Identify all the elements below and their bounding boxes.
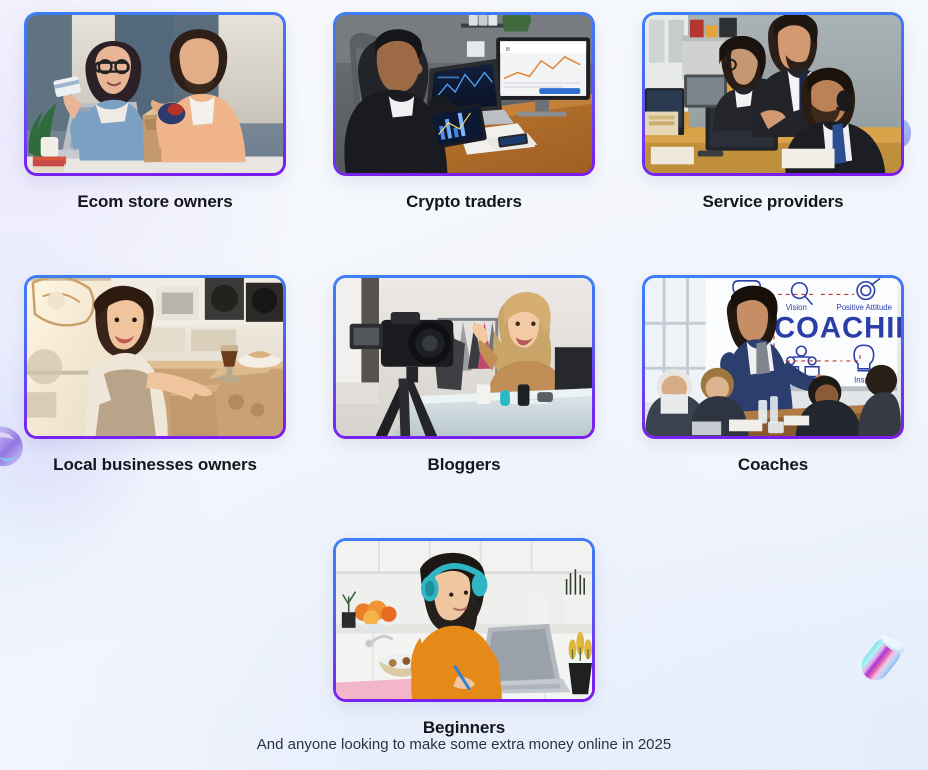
card-frame <box>333 275 595 439</box>
audience-card-service-providers[interactable]: Service providers <box>642 12 904 212</box>
card-image-container <box>27 278 283 436</box>
svg-text:Vision: Vision <box>786 303 807 312</box>
card-frame: COACHING Vision Positive Attitude Solid … <box>642 275 904 439</box>
card-frame: B <box>333 12 595 176</box>
audience-card-local-businesses-owners[interactable]: Local businesses owners <box>24 275 286 475</box>
card-row-3: Beginners <box>20 538 908 738</box>
audience-card-beginners[interactable]: Beginners <box>333 538 595 738</box>
audience-card-bloggers[interactable]: Bloggers <box>333 275 595 475</box>
card-frame <box>24 275 286 439</box>
svg-text:Positive Attitude: Positive Attitude <box>837 303 892 312</box>
svg-text:COACHING: COACHING <box>774 312 901 345</box>
card-row-2: Local businesses owners <box>20 275 908 475</box>
audience-card-coaches[interactable]: COACHING Vision Positive Attitude Solid … <box>642 275 904 475</box>
card-image-container <box>336 278 592 436</box>
card-label: Local businesses owners <box>53 455 257 475</box>
card-image-container <box>645 15 901 173</box>
card-label: Ecom store owners <box>77 192 232 212</box>
crypto-traders-photo: B <box>336 15 592 173</box>
card-frame <box>333 538 595 702</box>
audience-card-ecom-store-owners[interactable]: Ecom store owners <box>24 12 286 212</box>
footnote-text: And anyone looking to make some extra mo… <box>0 736 928 753</box>
coaches-photo: COACHING Vision Positive Attitude Solid … <box>645 278 901 436</box>
svg-text:B: B <box>506 47 510 53</box>
card-label: Bloggers <box>428 455 501 475</box>
service-providers-photo <box>645 15 901 173</box>
card-frame <box>642 12 904 176</box>
card-label: Coaches <box>738 455 808 475</box>
card-image-container <box>336 541 592 699</box>
ecom-store-owners-photo <box>27 15 283 173</box>
bloggers-photo <box>336 278 592 436</box>
card-label: Service providers <box>703 192 844 212</box>
card-label: Crypto traders <box>406 192 522 212</box>
audience-card-grid: Ecom store owners <box>0 0 928 738</box>
beginners-photo <box>336 541 592 699</box>
card-frame <box>24 12 286 176</box>
local-businesses-owners-photo <box>27 278 283 436</box>
card-image-container <box>27 15 283 173</box>
card-image-container: B <box>336 15 592 173</box>
audience-card-crypto-traders[interactable]: B <box>333 12 595 212</box>
card-image-container: COACHING Vision Positive Attitude Solid … <box>645 278 901 436</box>
card-row-1: Ecom store owners <box>20 12 908 212</box>
